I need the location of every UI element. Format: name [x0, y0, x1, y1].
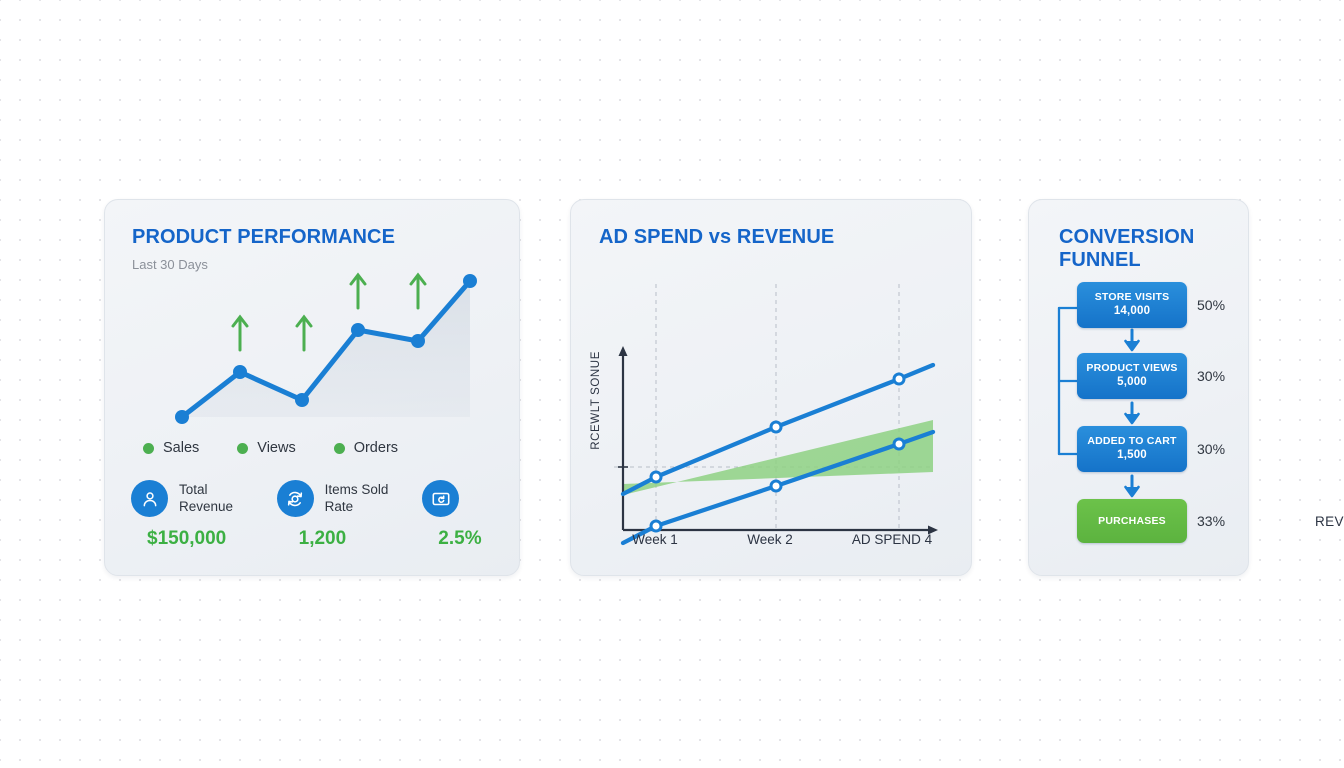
funnel-step-percent: 33% — [1197, 513, 1225, 529]
funnel-step-percent: 50% — [1197, 297, 1225, 313]
y-axis-label: RCEWLT SONUE — [590, 351, 602, 450]
funnel-box[interactable]: ADDED TO CART 1,500 — [1077, 426, 1187, 472]
funnel-box[interactable]: STORE VISITS 14,000 — [1077, 282, 1187, 328]
legend-dot-icon — [334, 443, 345, 454]
ad-spend-vs-revenue-card[interactable]: AD SPEND vs REVENUE — [570, 199, 972, 576]
metric-items-sold-rate[interactable]: Items Sold Rate 1,200 — [277, 480, 423, 550]
refresh-target-icon — [277, 480, 314, 517]
funnel-box[interactable]: PURCHASES — [1077, 499, 1187, 543]
legend-dot-icon — [237, 443, 248, 454]
ad-spend-revenue-chart — [571, 258, 973, 576]
product-performance-card[interactable]: PRODUCT PERFORMANCE Last 30 Days — [104, 199, 520, 576]
user-icon — [131, 480, 168, 517]
funnel-step-name: PRODUCT VIEWS — [1081, 361, 1183, 375]
metric-total-revenue[interactable]: Total Revenue $150,000 — [131, 480, 277, 550]
metrics-row: Total Revenue $150,000 Items Sold Rate 1… — [131, 480, 501, 550]
funnel-step-product-views[interactable]: PRODUCT VIEWS 5,000 30% — [1077, 353, 1245, 399]
series-label-revenue: REVENUE — [1315, 514, 1344, 529]
funnel-box[interactable]: PRODUCT VIEWS 5,000 — [1077, 353, 1187, 399]
page-title: AD SPEND vs REVENUE — [599, 226, 834, 249]
funnel-diagram: STORE VISITS 14,000 50% PRODUCT VIEWS 5,… — [1029, 282, 1250, 572]
metric-value: 1,200 — [299, 528, 423, 550]
funnel-step-name: STORE VISITS — [1081, 290, 1183, 304]
funnel-step-value: 14,000 — [1081, 304, 1183, 320]
funnel-step-value: 1,500 — [1081, 448, 1183, 464]
funnel-step-store-visits[interactable]: STORE VISITS 14,000 50% — [1077, 282, 1245, 328]
funnel-step-percent: 30% — [1197, 368, 1225, 384]
page-title: CONVERSION FUNNEL — [1059, 226, 1229, 272]
funnel-step-name: PURCHASES — [1081, 514, 1183, 528]
performance-line-chart — [115, 262, 515, 432]
metric-label: Items Sold Rate — [325, 482, 405, 516]
legend-item-sales[interactable]: Sales — [143, 440, 199, 456]
x-tick-label-ad-spend-4: AD SPEND 4 — [838, 532, 946, 547]
metric-label: Total Revenue — [179, 482, 259, 516]
conversion-funnel-card[interactable]: CONVERSION FUNNEL STORE VISITS 14,000 — [1028, 199, 1249, 576]
legend-label: Sales — [163, 440, 199, 456]
legend-dot-icon — [143, 443, 154, 454]
x-tick-label-week-2: Week 2 — [716, 532, 824, 547]
legend-label: Orders — [354, 440, 398, 456]
funnel-step-purchases[interactable]: PURCHASES 33% — [1077, 499, 1245, 543]
legend-item-views[interactable]: Views — [237, 440, 295, 456]
page-title: PRODUCT PERFORMANCE — [132, 226, 395, 249]
chart-legend: Sales Views Orders — [143, 440, 398, 456]
x-tick-label-week-1: Week 1 — [601, 532, 709, 547]
metric-value: 2.5% — [438, 528, 501, 550]
metric-conversion-rate[interactable]: 2.5% — [422, 480, 501, 550]
legend-label: Views — [257, 440, 295, 456]
funnel-step-percent: 30% — [1197, 441, 1225, 457]
monitor-refresh-icon — [422, 480, 459, 517]
legend-item-orders[interactable]: Orders — [334, 440, 398, 456]
funnel-step-added-to-cart[interactable]: ADDED TO CART 1,500 30% — [1077, 426, 1245, 472]
funnel-step-value: 5,000 — [1081, 375, 1183, 391]
funnel-step-name: ADDED TO CART — [1081, 434, 1183, 448]
metric-value: $150,000 — [147, 528, 277, 550]
